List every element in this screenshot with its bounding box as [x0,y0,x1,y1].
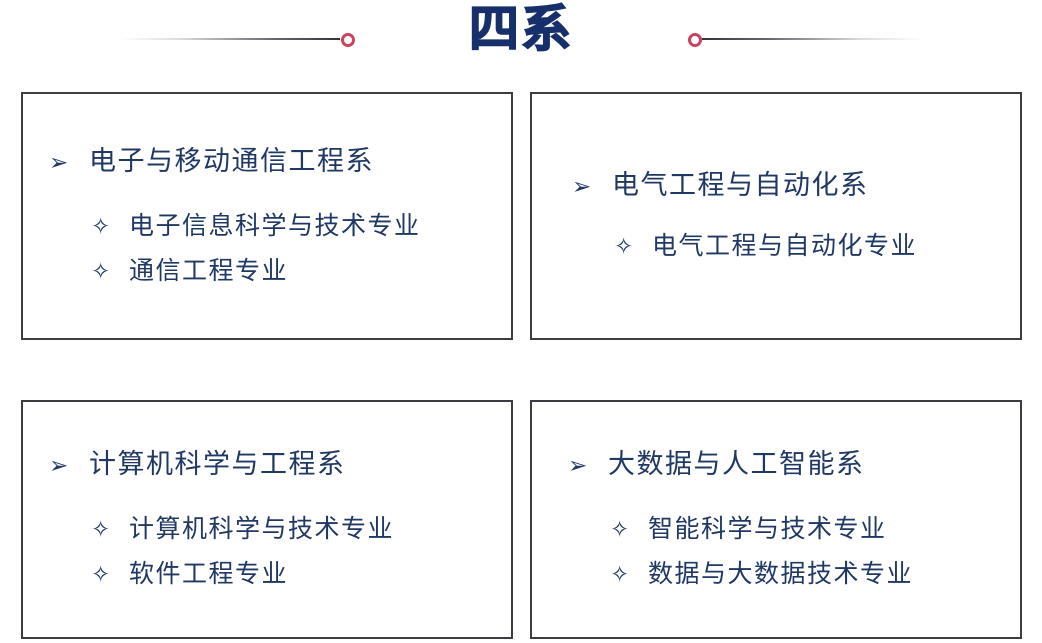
major-item: ✧ 计算机科学与技术专业 [49,515,501,544]
major-name: 软件工程专业 [129,560,288,588]
department-card[interactable]: ➢ 电子与移动通信工程系 ✧ 电子信息科学与技术专业 ✧ 通信工程专业 [21,92,513,340]
major-name: 电子信息科学与技术专业 [129,212,421,240]
department-name: 电子与移动通信工程系 [89,147,374,177]
page-title: 四系 [0,2,1042,56]
department-name: 电气工程与自动化系 [612,171,869,201]
arrow-bullet-icon: ➢ [568,451,608,481]
diamond-star-bullet-icon: ✧ [91,258,129,286]
major-name: 电气工程与自动化专业 [652,232,917,260]
ring-dot-right-icon [688,33,702,47]
major-item: ✧ 数据与大数据技术专业 [568,560,1010,589]
major-name: 数据与大数据技术专业 [648,560,913,588]
department-card[interactable]: ➢ 电气工程与自动化系 ✧ 电气工程与自动化专业 [530,92,1022,340]
diamond-star-bullet-icon: ✧ [91,516,129,544]
department-name: 计算机科学与工程系 [89,450,346,480]
major-item: ✧ 软件工程专业 [49,560,501,589]
department-heading: ➢ 电子与移动通信工程系 [49,147,501,178]
major-name: 通信工程专业 [129,257,288,285]
major-name: 智能科学与技术专业 [648,515,887,543]
diamond-star-bullet-icon: ✧ [610,516,648,544]
diamond-star-bullet-icon: ✧ [91,213,129,241]
department-heading: ➢ 大数据与人工智能系 [568,450,1010,481]
major-name: 计算机科学与技术专业 [129,515,394,543]
arrow-bullet-icon: ➢ [49,148,89,178]
major-item: ✧ 电子信息科学与技术专业 [49,212,501,241]
page-header: 四系 [0,0,1042,90]
gradient-rule-right-icon [702,38,924,40]
diamond-star-bullet-icon: ✧ [614,233,652,261]
department-heading: ➢ 计算机科学与工程系 [49,450,501,481]
department-heading: ➢ 电气工程与自动化系 [572,171,1010,202]
major-item: ✧ 智能科学与技术专业 [568,515,1010,544]
arrow-bullet-icon: ➢ [572,172,612,202]
major-item: ✧ 电气工程与自动化专业 [572,232,1010,261]
department-card-grid: ➢ 电子与移动通信工程系 ✧ 电子信息科学与技术专业 ✧ 通信工程专业 ➢ 电气… [21,92,1022,639]
department-name: 大数据与人工智能系 [608,450,865,480]
department-card[interactable]: ➢ 大数据与人工智能系 ✧ 智能科学与技术专业 ✧ 数据与大数据技术专业 [530,400,1022,639]
major-item: ✧ 通信工程专业 [49,257,501,286]
diamond-star-bullet-icon: ✧ [610,561,648,589]
diamond-star-bullet-icon: ✧ [91,561,129,589]
arrow-bullet-icon: ➢ [49,451,89,481]
department-card[interactable]: ➢ 计算机科学与工程系 ✧ 计算机科学与技术专业 ✧ 软件工程专业 [21,400,513,639]
